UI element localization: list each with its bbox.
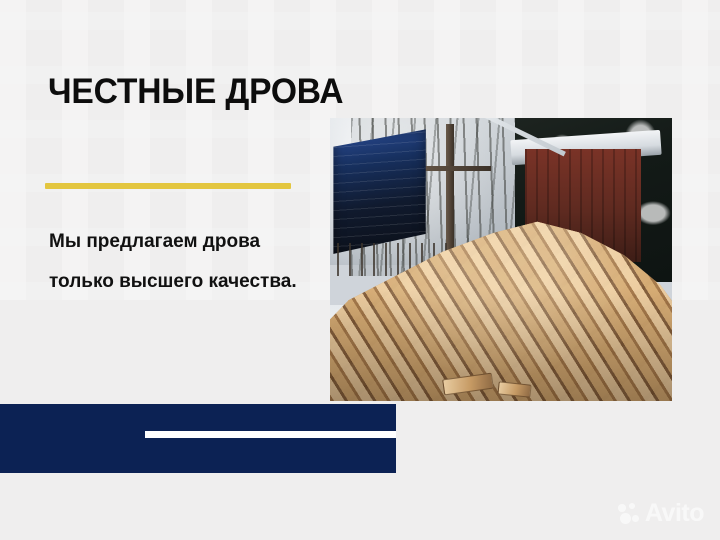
tarp-stripes: [333, 129, 425, 254]
firewood-photo: [330, 118, 672, 401]
navy-footer-band: [0, 404, 396, 473]
avito-logo-icon: [618, 503, 640, 525]
avito-wordmark: Avito: [645, 501, 704, 526]
navy-band-white-rule: [145, 431, 396, 438]
page-title: ЧЕСТНЫЕ ДРОВА: [48, 74, 343, 109]
photo-scene: [330, 118, 672, 401]
title-divider: [45, 183, 291, 189]
avito-watermark: Avito: [618, 501, 704, 526]
body-text: Мы предлагаем дрова только высшего качес…: [49, 222, 299, 302]
slide-canvas: ЧЕСТНЫЕ ДРОВА Мы предлагаем дрова только…: [0, 0, 720, 540]
